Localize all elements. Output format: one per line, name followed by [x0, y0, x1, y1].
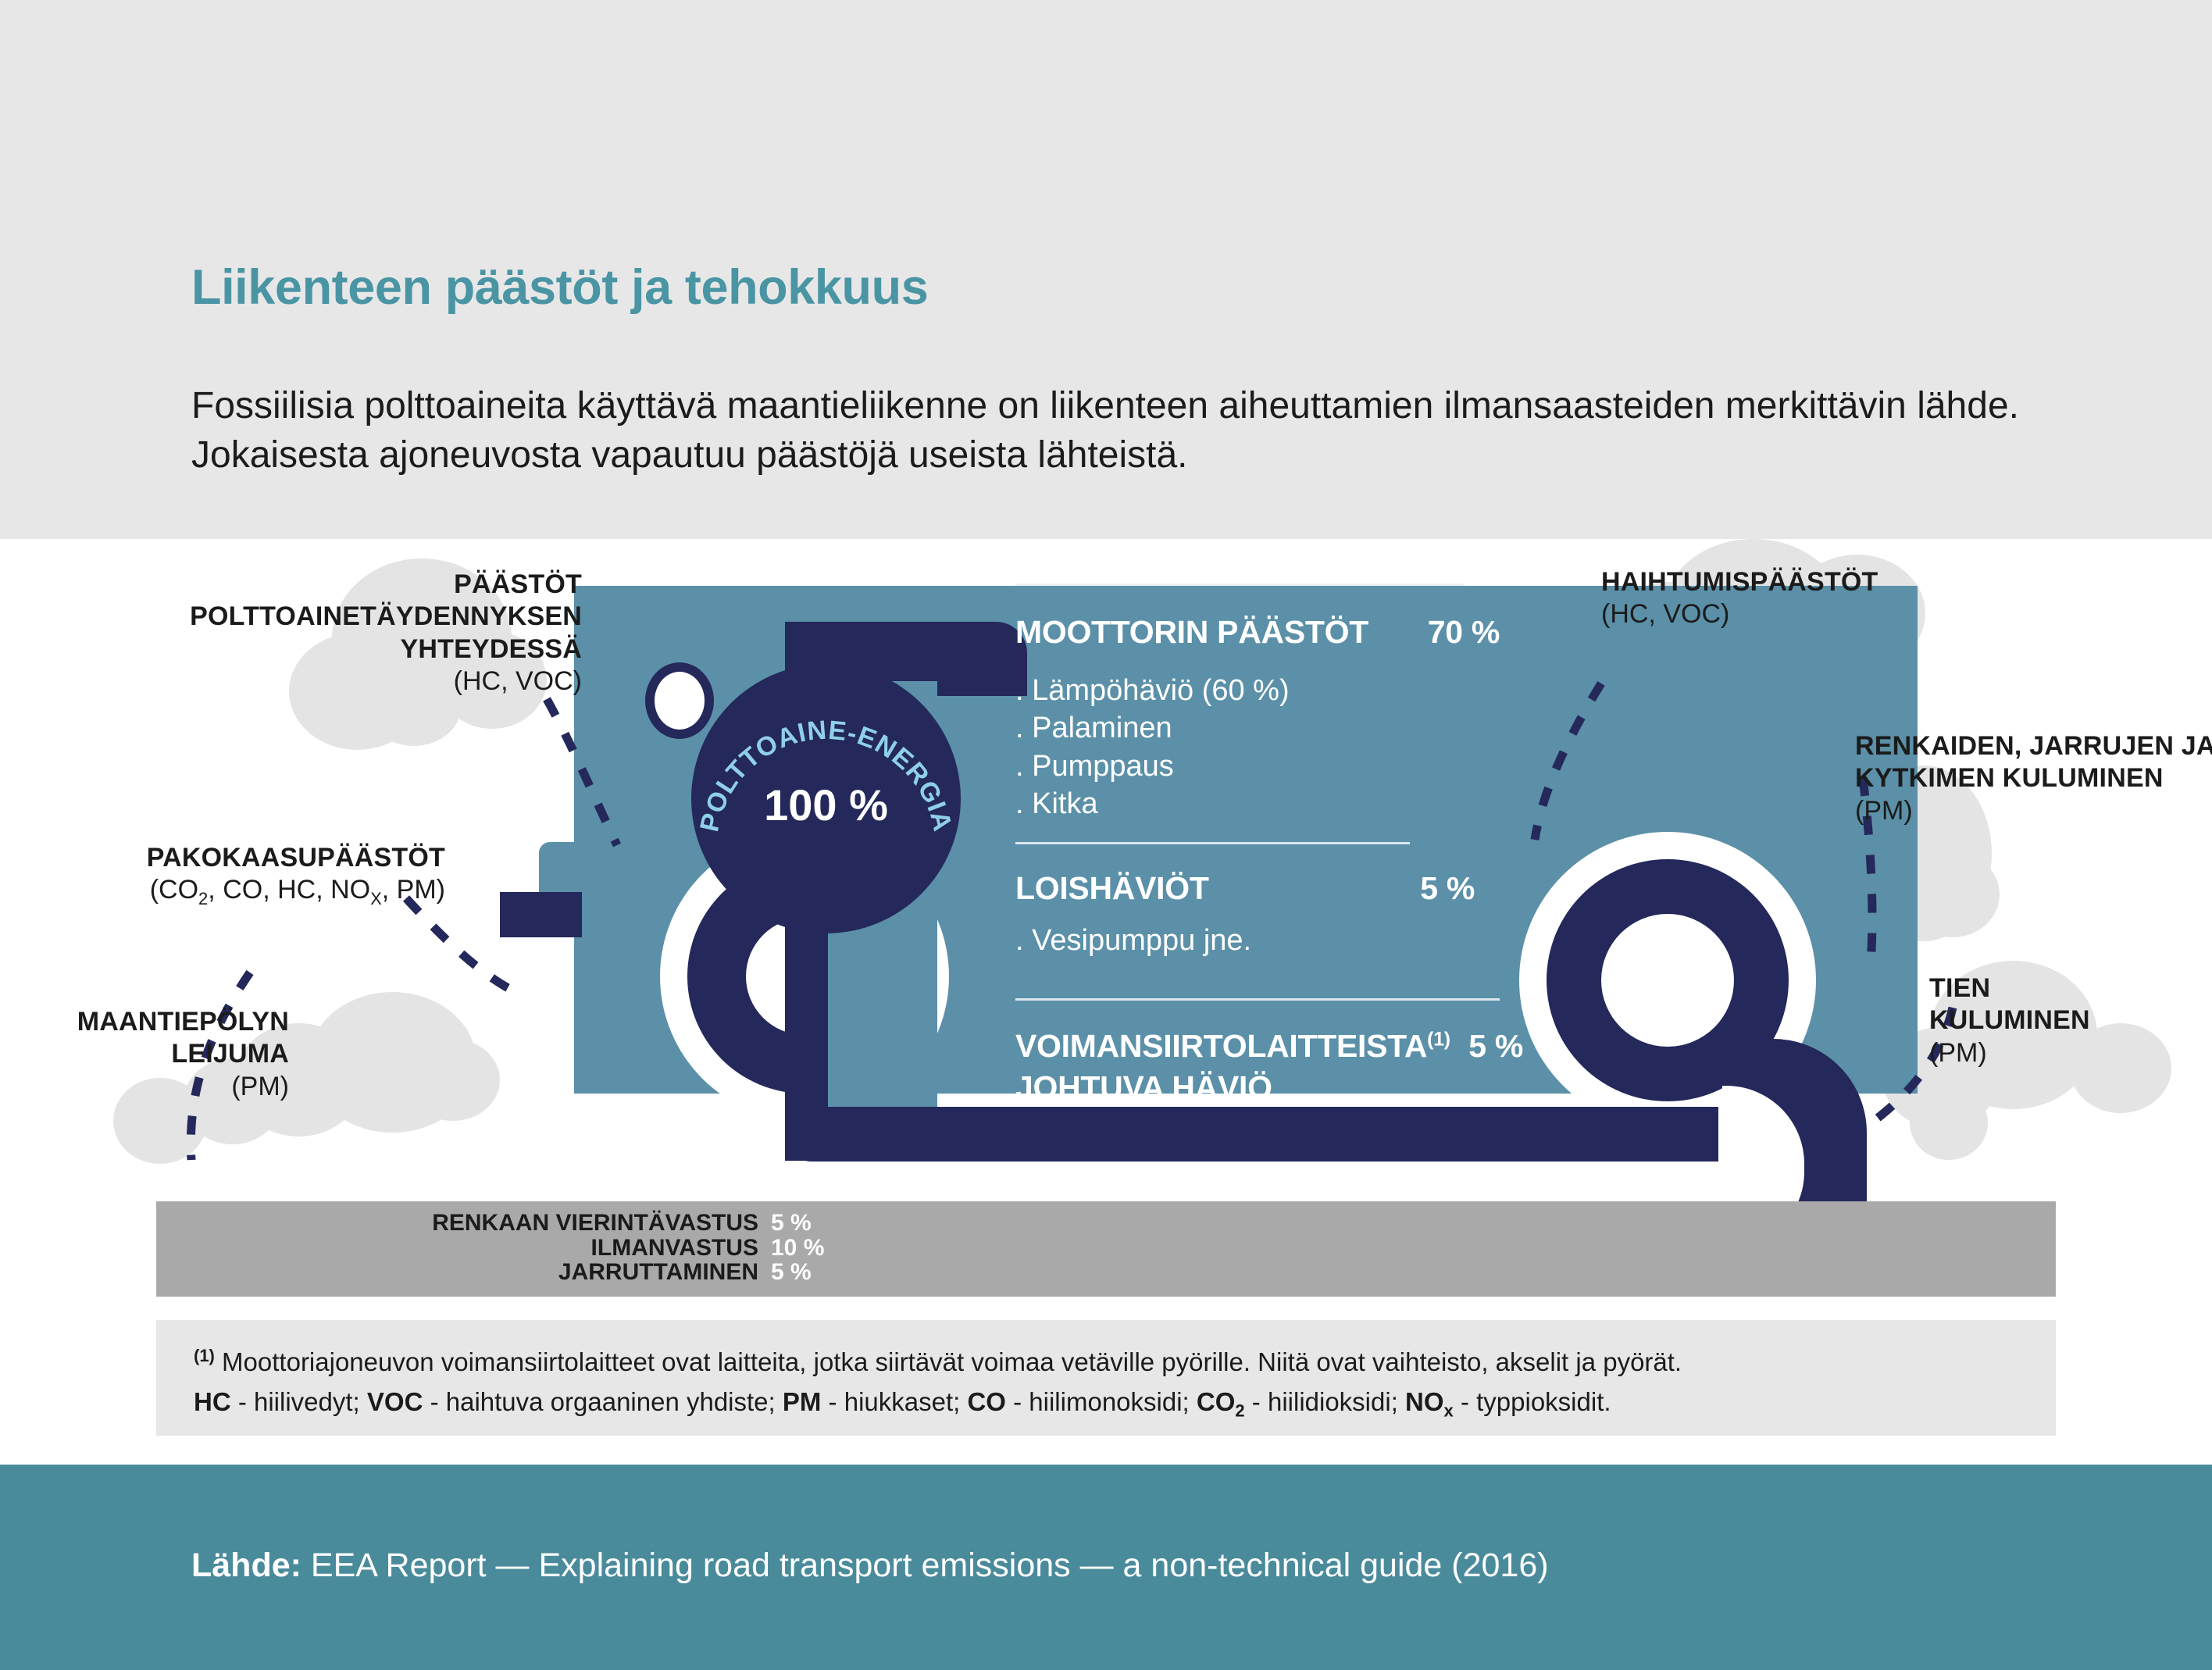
label-title: HAIHTUMISPÄÄSTÖT [1601, 566, 2007, 598]
label-road-dust: MAANTIEPÖLYN LEIJUMA (PM) [39, 1006, 289, 1103]
page-subtitle: Fossiilisia polttoaineita käyttävä maant… [191, 381, 2019, 480]
table-row: ILMANVASTUS 10 % [146, 1236, 849, 1261]
drivetrain-footnote-marker: (1) [1427, 1028, 1450, 1050]
page-title: Liikenteen päästöt ja tehokkuus [191, 259, 928, 316]
header-band: Liikenteen päästöt ja tehokkuus Fossiili… [0, 0, 2212, 539]
panel-divider [1015, 998, 1500, 1001]
label-title: PÄÄSTÖT [117, 569, 582, 601]
label-title: LEIJUMA [39, 1038, 289, 1070]
footnote-text: Moottoriajoneuvon voimansiirtolaitteet o… [215, 1347, 1682, 1376]
list-item: . Vesipumppu jne. [1015, 922, 1251, 959]
label-tyre-brake-clutch-wear: RENKAIDEN, JARRUJEN JA KYTKIMEN KULUMINE… [1855, 730, 2212, 827]
footnote-marker: (1) [194, 1346, 215, 1365]
label-title: KULUMINEN [1929, 1004, 2187, 1037]
label-title: KYTKIMEN KULUMINEN [1855, 762, 2212, 794]
label-subtitle: (HC, VOC) [1601, 598, 2007, 630]
label-subtitle: (PM) [39, 1071, 289, 1103]
road-row-value: 5 % [771, 1260, 849, 1285]
engine-emissions-label: MOOTTORIN PÄÄSTÖT [1015, 614, 1368, 651]
fuel-energy-value: 100 % [691, 780, 961, 830]
panel-divider [1015, 842, 1410, 844]
engine-emissions-heading: MOOTTORIN PÄÄSTÖT 70 % [1015, 614, 1500, 651]
label-subtitle: (PM) [1929, 1037, 2187, 1069]
label-title: RENKAIDEN, JARRUJEN JA [1855, 730, 2212, 762]
abbreviation-line: HC - hiilivedyt; VOC - haihtuva orgaanin… [194, 1382, 2018, 1425]
road-surface-bar: RENKAAN VIERINTÄVASTUS 5 % ILMANVASTUS 1… [156, 1201, 2056, 1297]
source-prefix: Lähde: [191, 1547, 301, 1584]
cloud-puff [1910, 1086, 1988, 1160]
road-row-label: RENKAAN VIERINTÄVASTUS [432, 1211, 758, 1236]
label-title: MAANTIEPÖLYN [39, 1006, 289, 1038]
parasitic-losses-heading: LOISHÄVIÖT 5 % [1015, 870, 1475, 907]
footnote-line: (1) Moottoriajoneuvon voimansiirtolaitte… [194, 1342, 2018, 1382]
list-item: . Palaminen [1015, 709, 1290, 747]
list-item: . Pumppaus [1015, 748, 1290, 785]
list-item: . Kitka [1015, 785, 1290, 823]
road-resistance-list: RENKAAN VIERINTÄVASTUS 5 % ILMANVASTUS 1… [146, 1211, 849, 1285]
label-road-wear: TIEN KULUMINEN (PM) [1929, 972, 2187, 1069]
label-subtitle: (HC, VOC) [117, 666, 582, 698]
label-subtitle: (CO2, CO, HC, NOX, PM) [70, 874, 445, 909]
cloud-puff [406, 1039, 500, 1121]
infographic-page: Liikenteen päästöt ja tehokkuus Fossiili… [0, 0, 2212, 1670]
drivetrain-losses-heading: VOIMANSIIRTOLAITTEISTA(1) 5 % JOHTUVA HÄ… [1015, 1028, 1523, 1106]
label-subtitle: (PM) [1855, 795, 2212, 827]
road-row-value: 10 % [771, 1236, 849, 1261]
table-row: RENKAAN VIERINTÄVASTUS 5 % [146, 1211, 849, 1236]
connector-exhaust [406, 898, 516, 992]
source-text: EEA Report — Explaining road transport e… [301, 1547, 1549, 1584]
list-item: . Lämpöhäviö (60 %) [1015, 672, 1290, 709]
parasitic-losses-label: LOISHÄVIÖT [1015, 870, 1209, 907]
label-title: POLTTOAINETÄYDENNYKSEN [117, 601, 582, 633]
engine-emissions-list: . Lämpöhäviö (60 %) . Palaminen . Pumppa… [1015, 672, 1290, 823]
label-exhaust-emissions: PAKOKAASUPÄÄSTÖT (CO2, CO, HC, NOX, PM) [70, 842, 445, 910]
label-title: PAKOKAASUPÄÄSTÖT [70, 842, 445, 874]
source-line: Lähde: EEA Report — Explaining road tran… [191, 1547, 1549, 1585]
source-footer: Lähde: EEA Report — Explaining road tran… [0, 1465, 2212, 1670]
drivetrain-losses-label-2: JOHTUVA HÄVIÖ [1015, 1069, 1272, 1105]
parasitic-losses-pct: 5 % [1420, 870, 1475, 907]
drivetrain-losses-label: VOIMANSIIRTOLAITTEISTA [1015, 1028, 1427, 1064]
cloud-puff [1906, 851, 2000, 937]
rear-wheel-hub [1601, 914, 1734, 1047]
label-evaporative-emissions: HAIHTUMISPÄÄSTÖT (HC, VOC) [1601, 566, 2007, 630]
label-refuelling-emissions: PÄÄSTÖT POLTTOAINETÄYDENNYKSEN YHTEYDESS… [117, 569, 582, 698]
road-row-label: JARRUTTAMINEN [558, 1260, 758, 1285]
energy-pipe-horizontal [785, 1107, 1718, 1162]
exhaust-pipe [500, 892, 582, 937]
fuel-energy-badge: POLTTOAINE-ENERGIA 100 % [691, 664, 961, 933]
label-title: YHTEYDESSÄ [117, 633, 582, 666]
table-row: JARRUTTAMINEN 5 % [146, 1260, 849, 1285]
road-row-value: 5 % [771, 1211, 849, 1236]
drivetrain-losses-pct: 5 % [1468, 1028, 1523, 1065]
panel-divider [1015, 583, 1465, 586]
engine-emissions-pct: 70 % [1428, 614, 1500, 651]
label-title: TIEN [1929, 972, 2187, 1004]
footnotes-block: (1) Moottoriajoneuvon voimansiirtolaitte… [156, 1320, 2056, 1436]
illustration-stage: POLTTOAINE-ENERGIA 100 % MOOTTORIN PÄÄST… [0, 539, 2212, 1219]
road-row-label: ILMANVASTUS [591, 1236, 758, 1261]
